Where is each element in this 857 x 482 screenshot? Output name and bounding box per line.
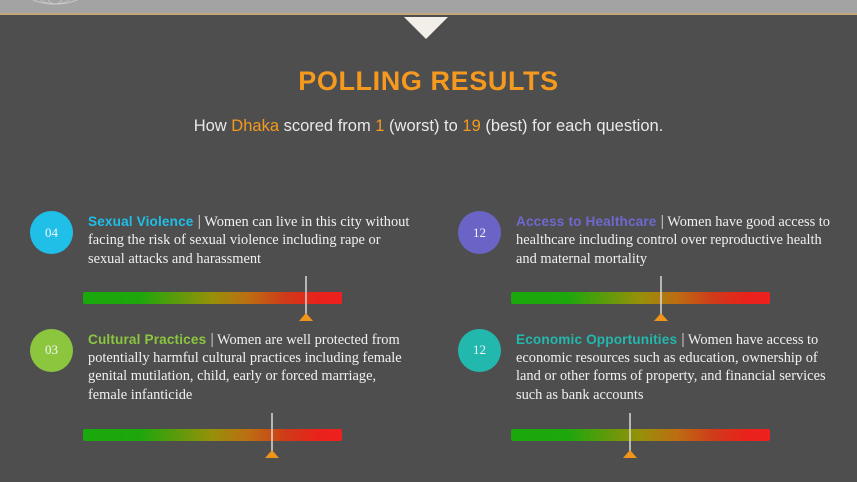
score-marker-triangle-icon xyxy=(265,450,279,458)
score-badge: 04 xyxy=(30,211,73,254)
page-subtitle: How Dhaka scored from 1 (worst) to 19 (b… xyxy=(0,115,857,139)
down-triangle-notch-icon xyxy=(404,17,448,39)
score-badge-value: 12 xyxy=(473,225,486,241)
score-marker xyxy=(305,276,307,320)
question-text: Economic Opportunities|Women have access… xyxy=(516,323,840,404)
score-scale xyxy=(511,429,770,441)
score-badge-value: 03 xyxy=(45,342,58,358)
score-marker-triangle-icon xyxy=(654,313,668,321)
question-card: 12 Economic Opportunities|Women have acc… xyxy=(428,323,856,441)
question-card: 12 Access to Healthcare|Women have good … xyxy=(428,205,856,304)
score-badge-value: 04 xyxy=(45,225,58,241)
subtitle-best-value: 19 xyxy=(462,117,480,135)
questions-row: 03 Cultural Practices|Women are well pro… xyxy=(0,323,857,441)
score-marker xyxy=(271,413,273,457)
questions-grid: 04 Sexual Violence|Women can live in thi… xyxy=(0,205,857,441)
score-badge: 12 xyxy=(458,211,501,254)
score-marker-triangle-icon xyxy=(299,313,313,321)
score-badge: 03 xyxy=(30,329,73,372)
subtitle-part-4: (best) for each question. xyxy=(481,117,664,135)
question-category: Economic Opportunities xyxy=(516,332,677,347)
score-marker xyxy=(660,276,662,320)
question-header: 12 Access to Healthcare|Women have good … xyxy=(428,205,840,268)
question-text: Cultural Practices|Women are well protec… xyxy=(88,323,412,404)
subtitle-city: Dhaka xyxy=(231,117,279,135)
subtitle-part-3: (worst) to xyxy=(384,117,462,135)
score-badge-value: 12 xyxy=(473,342,486,358)
question-header: 03 Cultural Practices|Women are well pro… xyxy=(0,323,412,404)
category-divider: | xyxy=(194,214,205,230)
score-scale xyxy=(83,429,342,441)
question-text: Access to Healthcare|Women have good acc… xyxy=(516,205,840,268)
question-category: Access to Healthcare xyxy=(516,214,657,229)
question-category: Sexual Violence xyxy=(88,214,194,229)
subtitle-part-1: How xyxy=(194,117,232,135)
partial-logo-icon xyxy=(26,0,84,13)
subtitle-part-2: scored from xyxy=(279,117,375,135)
question-category: Cultural Practices xyxy=(88,332,206,347)
page-title: POLLING RESULTS xyxy=(0,66,857,97)
questions-row: 04 Sexual Violence|Women can live in thi… xyxy=(0,205,857,304)
score-scale xyxy=(83,292,342,304)
category-divider: | xyxy=(677,332,688,348)
score-marker xyxy=(629,413,631,457)
score-gradient-bar xyxy=(83,429,342,441)
score-gradient-bar xyxy=(83,292,342,304)
question-header: 04 Sexual Violence|Women can live in thi… xyxy=(0,205,412,268)
question-card: 04 Sexual Violence|Women can live in thi… xyxy=(0,205,428,304)
slide-root: POLLING RESULTS How Dhaka scored from 1 … xyxy=(0,0,857,482)
score-gradient-bar xyxy=(511,292,770,304)
score-badge: 12 xyxy=(458,329,501,372)
question-text: Sexual Violence|Women can live in this c… xyxy=(88,205,412,268)
category-divider: | xyxy=(657,214,668,230)
score-gradient-bar xyxy=(511,429,770,441)
header-block: POLLING RESULTS How Dhaka scored from 1 … xyxy=(0,66,857,139)
question-header: 12 Economic Opportunities|Women have acc… xyxy=(428,323,840,404)
score-marker-triangle-icon xyxy=(623,450,637,458)
score-scale xyxy=(511,292,770,304)
category-divider: | xyxy=(206,332,217,348)
question-card: 03 Cultural Practices|Women are well pro… xyxy=(0,323,428,441)
browser-top-bar xyxy=(0,0,857,15)
